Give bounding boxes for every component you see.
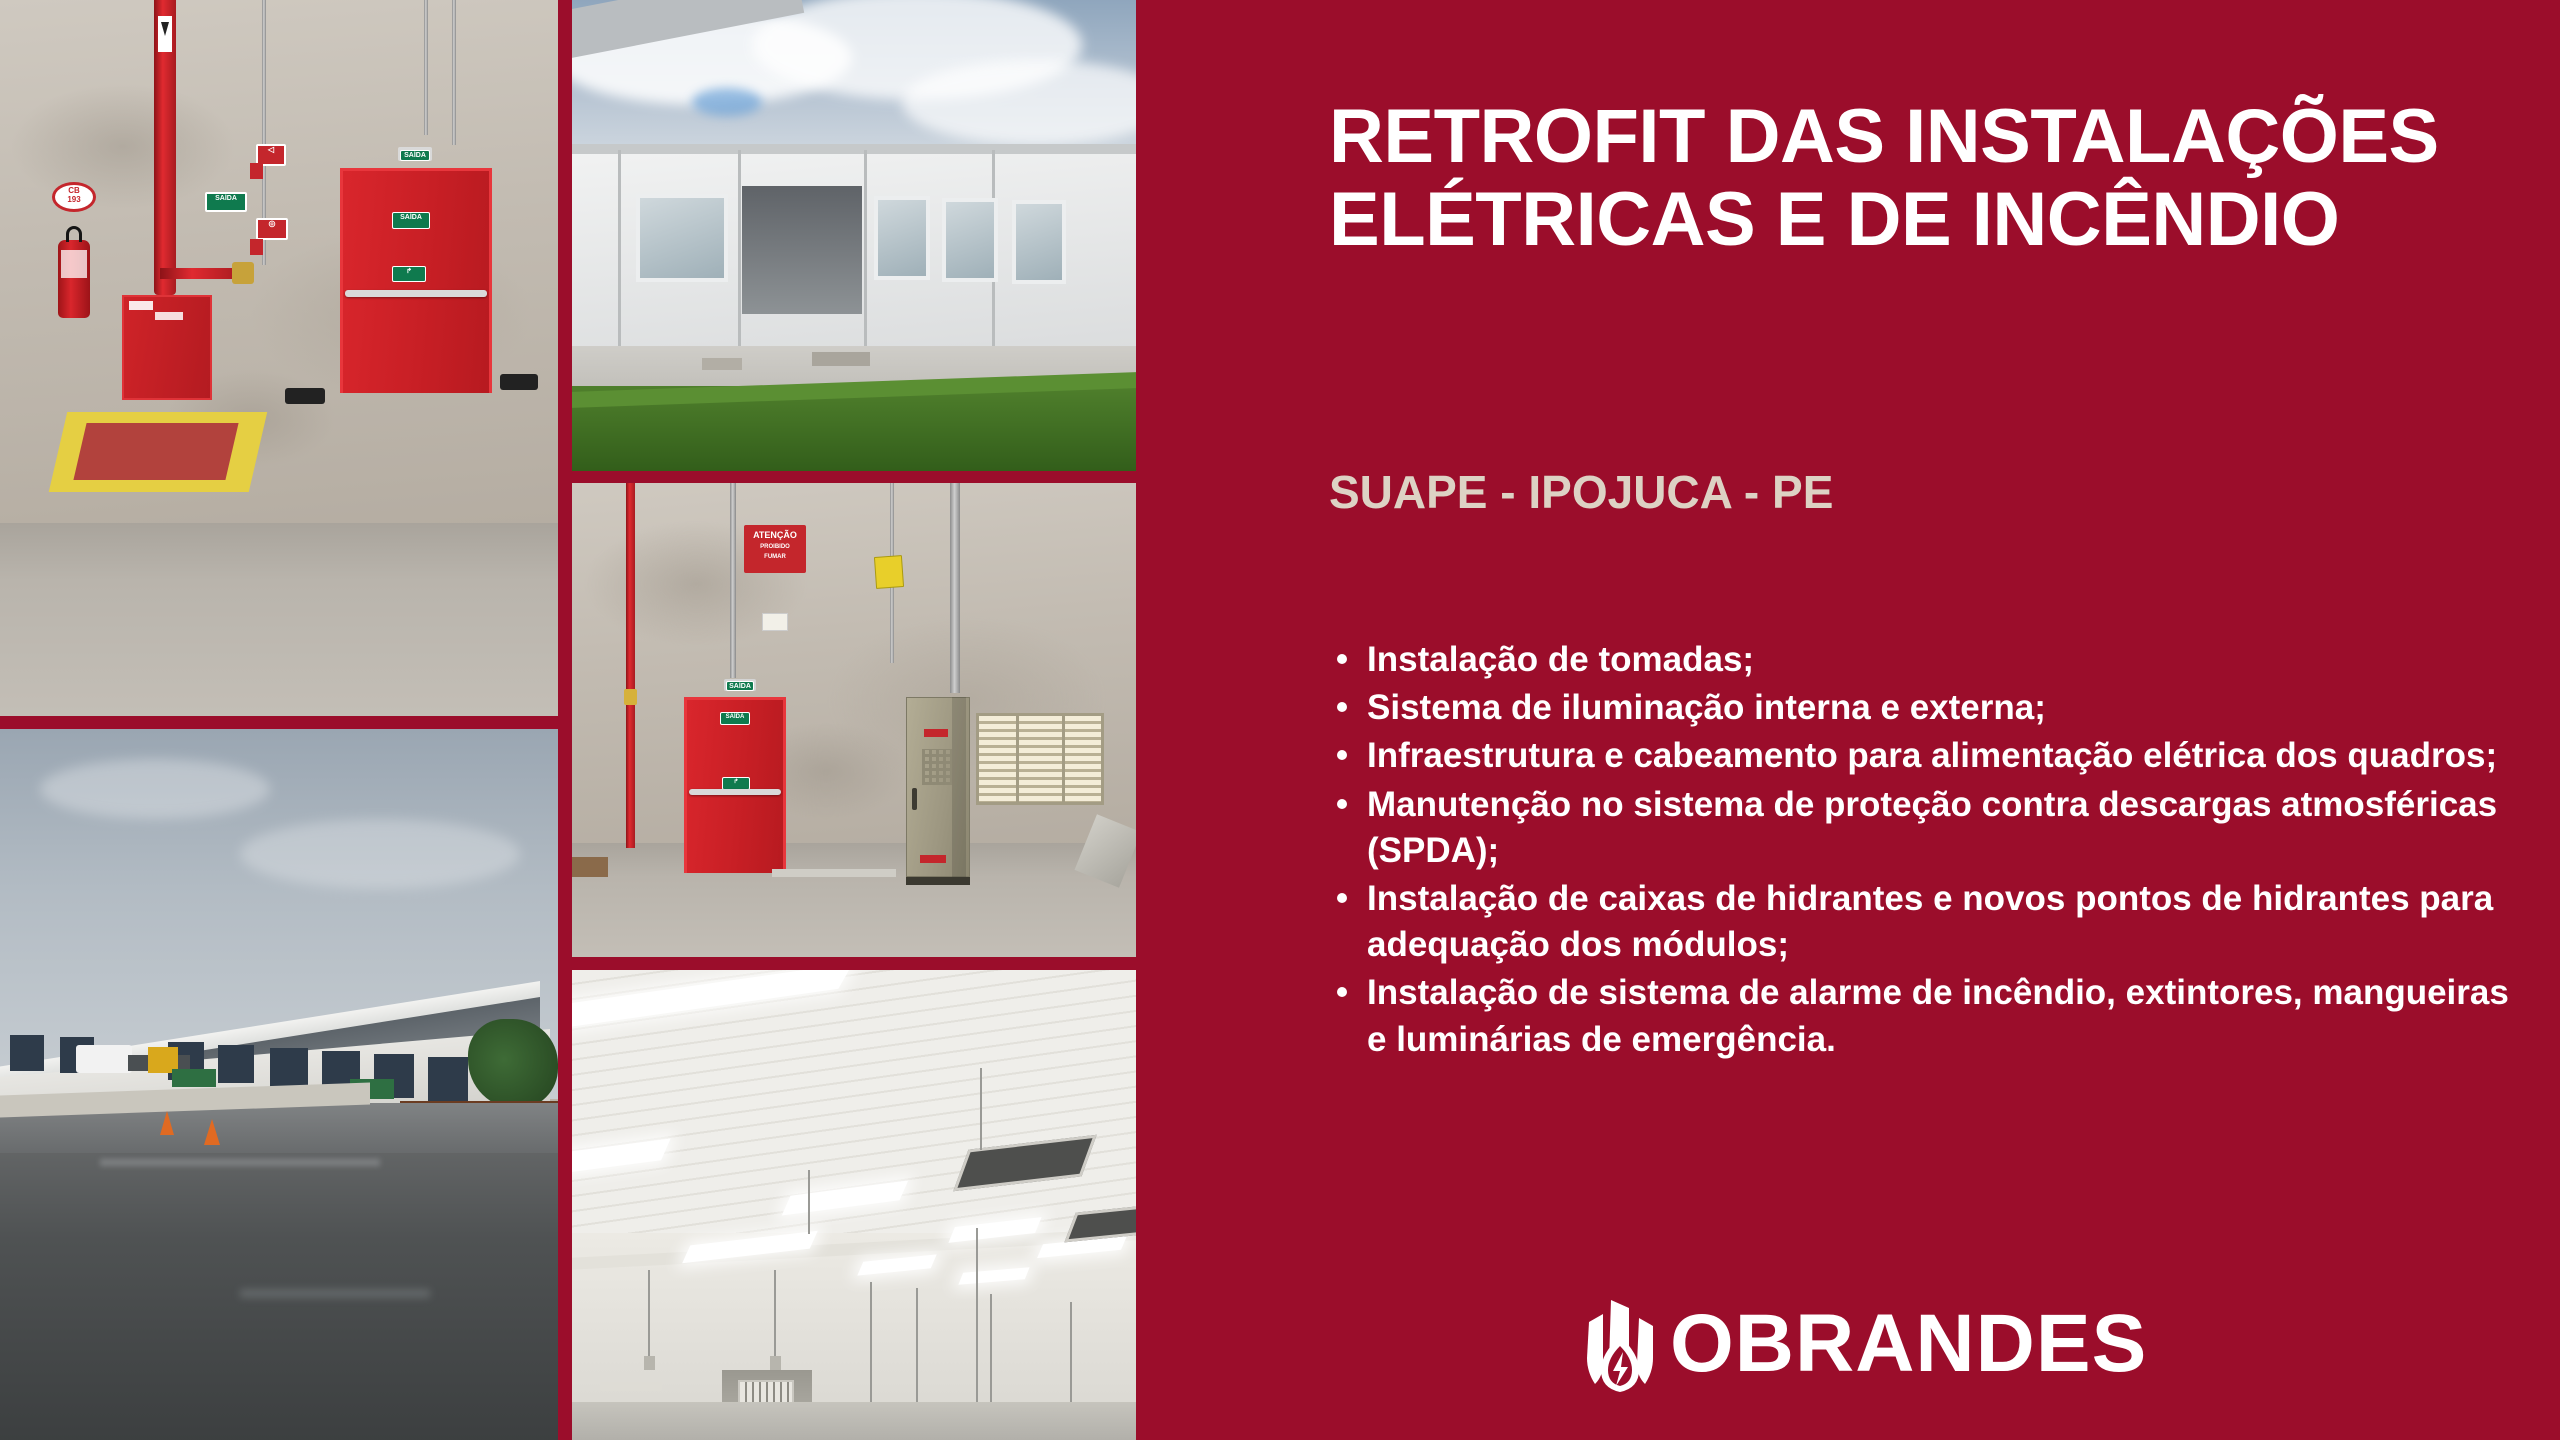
flame-building-icon — [1581, 1292, 1676, 1396]
photo-facade — [572, 0, 1136, 471]
brand-logo: OBRANDES — [1581, 1292, 2147, 1396]
location-subtitle: SUAPE - IPOJUCA - PE — [1329, 465, 1833, 519]
list-item: Instalação de tomadas; — [1329, 637, 2514, 683]
poster-canvas: CB193 ◁ SAÍDA ◎ SAÍDA SAÍDA ↱ — [0, 0, 2560, 1440]
list-item: Instalação de caixas de hidrantes e novo… — [1329, 876, 2514, 968]
logo-wordmark: OBRANDES — [1670, 1303, 2147, 1385]
photo-hydrant-door: CB193 ◁ SAÍDA ◎ SAÍDA SAÍDA ↱ — [0, 0, 558, 716]
list-item: Instalação de sistema de alarme de incên… — [1329, 970, 2514, 1062]
photo-gallery: CB193 ◁ SAÍDA ◎ SAÍDA SAÍDA ↱ — [0, 0, 1136, 1440]
scope-list: Instalação de tomadas; Sistema de ilumin… — [1329, 637, 2514, 1065]
photo-warehouse-dock — [0, 729, 558, 1440]
list-item: Infraestrutura e cabeamento para aliment… — [1329, 733, 2514, 779]
photo-ceiling — [572, 970, 1136, 1440]
photo-panel-door: ATENÇÃOPROIBIDOFUMAR SAÍDA SAÍDA ↱ — [572, 483, 1136, 957]
list-item: Manutenção no sistema de proteção contra… — [1329, 782, 2514, 874]
page-title: RETROFIT DAS INSTALAÇÕES ELÉTRICAS E DE … — [1329, 96, 2539, 262]
list-item: Sistema de iluminação interna e externa; — [1329, 685, 2514, 731]
content-panel: RETROFIT DAS INSTALAÇÕES ELÉTRICAS E DE … — [1136, 0, 2560, 1440]
